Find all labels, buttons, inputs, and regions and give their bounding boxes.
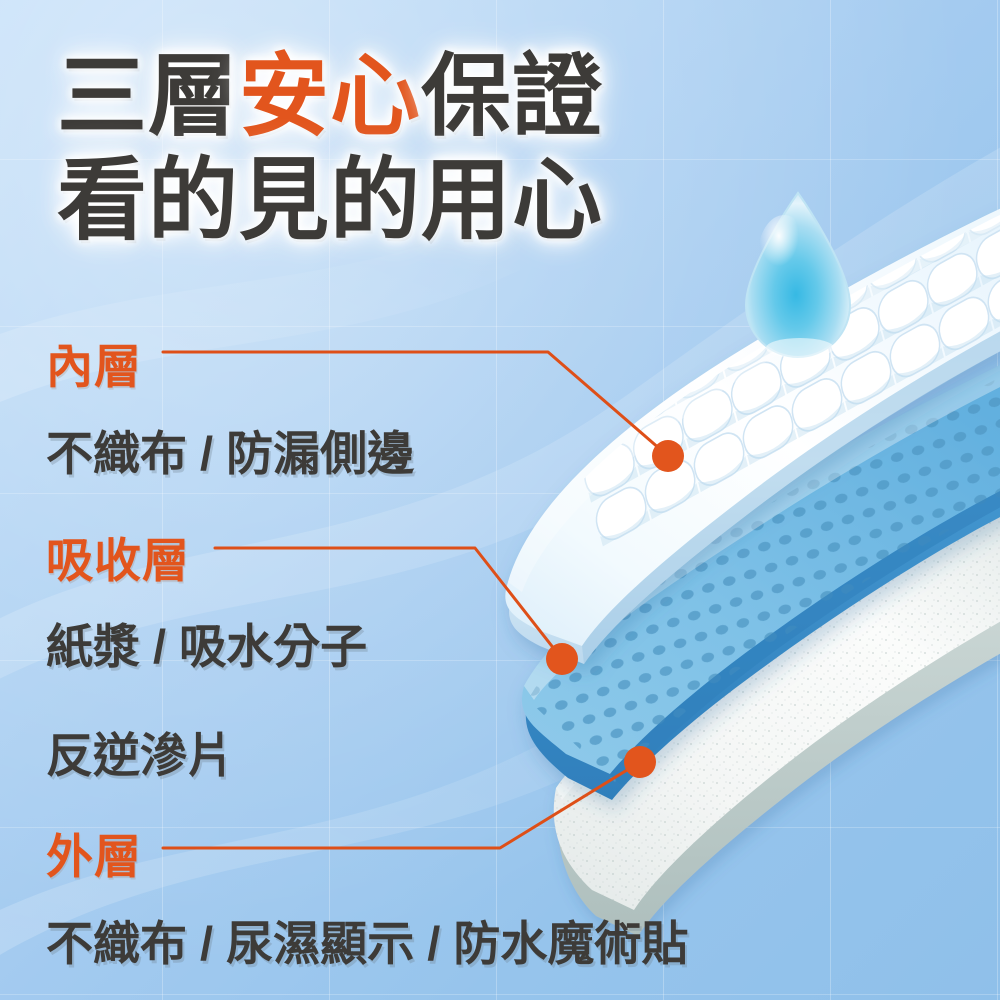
headline-line-1-prefix: 三層 (57, 47, 239, 147)
product-infographic: 三層安心保證 看的見的用心 內層 不織布 / 防漏側邊 吸收層 紙漿 / 吸水分… (0, 0, 1000, 1000)
layer-title-absorbent: 吸收層 (46, 522, 190, 591)
headline-line-1-accent: 安心 (239, 47, 421, 147)
callout-dot-absorbent (546, 643, 578, 675)
layer-desc-outer: 不織布 / 尿濕顯示 / 防水魔術貼 (46, 905, 688, 974)
layer-desc-absorbent-2: 反逆滲片 (46, 717, 234, 786)
layer-title-inner: 內層 (46, 328, 142, 397)
layer-middle-absorbent (480, 340, 1000, 820)
layer-desc-absorbent: 紙漿 / 吸水分子 (46, 608, 367, 677)
headline-line-2: 看的見的用心 (0, 156, 660, 246)
headline-line-1: 三層安心保證 (0, 52, 660, 142)
leader-line-outer (163, 762, 640, 848)
layer-desc-inner: 不織布 / 防漏側邊 (46, 415, 414, 484)
headline-block: 三層安心保證 看的見的用心 (0, 52, 660, 246)
layer-title-outer: 外層 (46, 818, 142, 887)
water-droplet-icon (746, 193, 850, 358)
layer-bottom-backsheet (554, 486, 1000, 936)
callout-dot-inner (652, 440, 684, 472)
headline-line-1-suffix: 保證 (421, 47, 603, 147)
callout-dot-outer (624, 746, 656, 778)
